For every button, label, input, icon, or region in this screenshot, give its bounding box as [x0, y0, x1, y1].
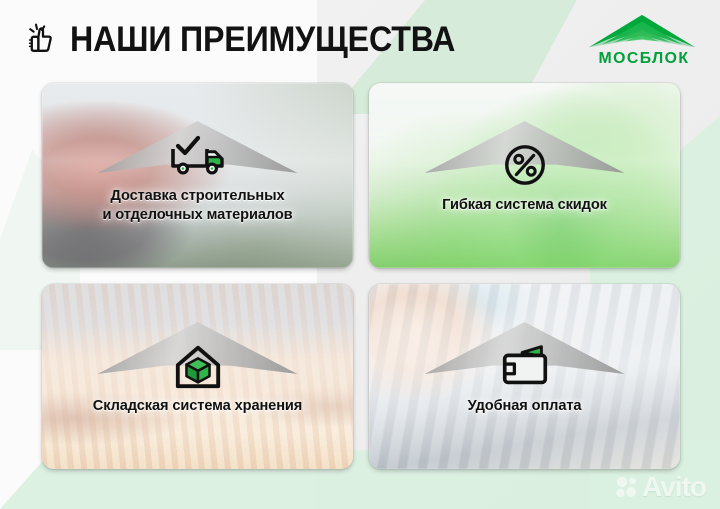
advantage-card-label: Складская система хранения — [93, 397, 302, 415]
advantage-card-label: Гибкая система скидок — [442, 196, 607, 214]
avito-dots-icon — [615, 475, 639, 499]
page-title: НАШИ ПРЕИМУЩЕСТВА — [70, 20, 455, 60]
mosblok-logo[interactable]: МОСБЛОК — [586, 13, 702, 68]
advantage-card-discounts[interactable]: Гибкая система скидок — [369, 83, 680, 268]
advantage-card-payment[interactable]: Удобная оплата — [369, 284, 680, 469]
percent-circle-icon — [502, 142, 548, 190]
avito-watermark: Avito — [615, 473, 706, 501]
advantages-grid: Доставка строительных и отделочных матер… — [42, 83, 680, 483]
warehouse-box-icon — [173, 343, 223, 391]
advantage-card-label: Доставка строительных и отделочных матер… — [102, 187, 292, 224]
advantage-card-label: Удобная оплата — [468, 397, 582, 415]
advantage-card-delivery[interactable]: Доставка строительных и отделочных матер… — [42, 83, 353, 268]
mosblok-wordmark: МОСБЛОК — [585, 50, 703, 68]
wallet-icon — [497, 343, 553, 391]
advantage-card-storage[interactable]: Складская система хранения — [42, 284, 353, 469]
page-header: НАШИ ПРЕИМУЩЕСТВА МОСБЛОК — [0, 0, 720, 80]
delivery-truck-icon — [167, 133, 229, 181]
mosblok-chevron-icon — [586, 13, 698, 51]
avito-wordmark: Avito — [642, 473, 706, 501]
thumbs-up-icon — [26, 23, 60, 59]
